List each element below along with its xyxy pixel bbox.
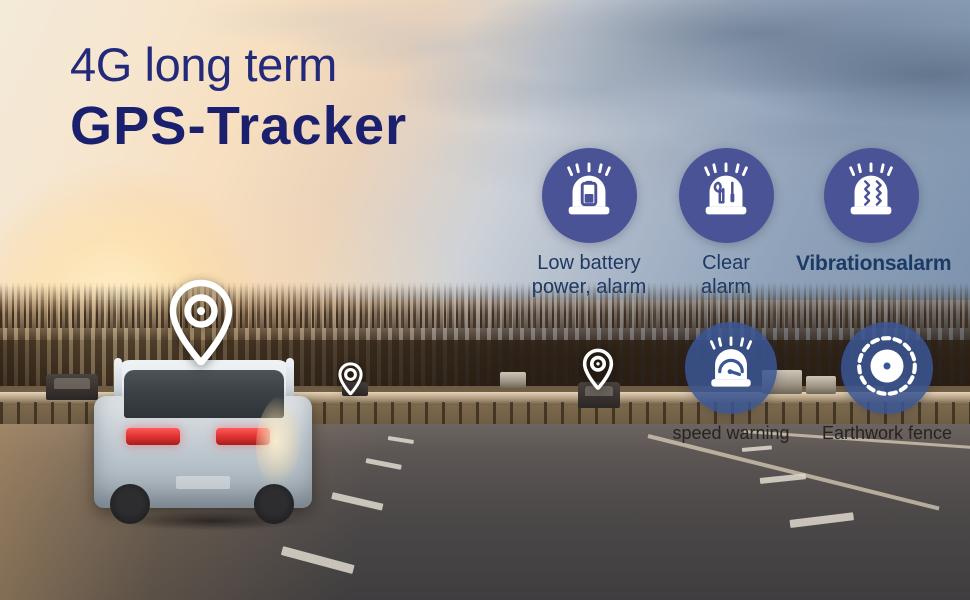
feature-icon-circle	[542, 148, 637, 243]
vehicle-wheel-left	[110, 484, 150, 524]
vehicle-sun-flare	[256, 392, 322, 500]
gps-pin-icon	[168, 278, 234, 368]
gps-tracker-promo-banner: 4G long term GPS-Tracker	[0, 0, 970, 600]
headline-primary: 4G long term	[70, 40, 407, 89]
feature-icon-circle	[841, 322, 933, 414]
siren-tools-icon	[695, 162, 757, 229]
feature-icon-circle	[679, 148, 774, 243]
vehicle-rear-window	[124, 370, 284, 418]
feature-earthwork-fence[interactable]: Earthwork fence	[817, 322, 957, 444]
gps-pin-icon	[338, 362, 363, 396]
feature-label: Vibrationsalarm	[796, 252, 946, 277]
feature-vibration-alarm[interactable]: Vibrationsalarm	[796, 148, 946, 277]
feature-label: Earthwork fence	[817, 423, 957, 444]
headline-secondary: GPS-Tracker	[70, 95, 407, 159]
feature-icon-circle	[824, 148, 919, 243]
vehicle-taillight-left	[126, 428, 180, 445]
siren-battery-icon	[558, 162, 620, 229]
siren-vibration-icon	[840, 162, 902, 229]
feature-speed-warning[interactable]: speed warning	[666, 322, 796, 444]
feature-label: Low battery power, alarm	[509, 252, 669, 299]
siren-speedometer-icon	[701, 336, 761, 401]
feature-icon-circle	[685, 322, 777, 414]
feature-clear-alarm[interactable]: Clear alarm	[676, 148, 776, 299]
distant-car-window	[54, 378, 90, 389]
vehicle-roof-rail	[114, 358, 122, 398]
feature-low-battery[interactable]: Low battery power, alarm	[509, 148, 669, 299]
feature-label: Clear alarm	[676, 252, 776, 299]
feature-label: speed warning	[666, 423, 796, 444]
subject-vehicle-suv	[88, 356, 320, 524]
page-title: 4G long term GPS-Tracker	[70, 40, 407, 159]
gps-pin-icon	[582, 348, 614, 391]
compass-geofence-icon	[854, 333, 920, 404]
vehicle-license-plate	[176, 476, 230, 489]
distant-truck	[500, 372, 526, 388]
